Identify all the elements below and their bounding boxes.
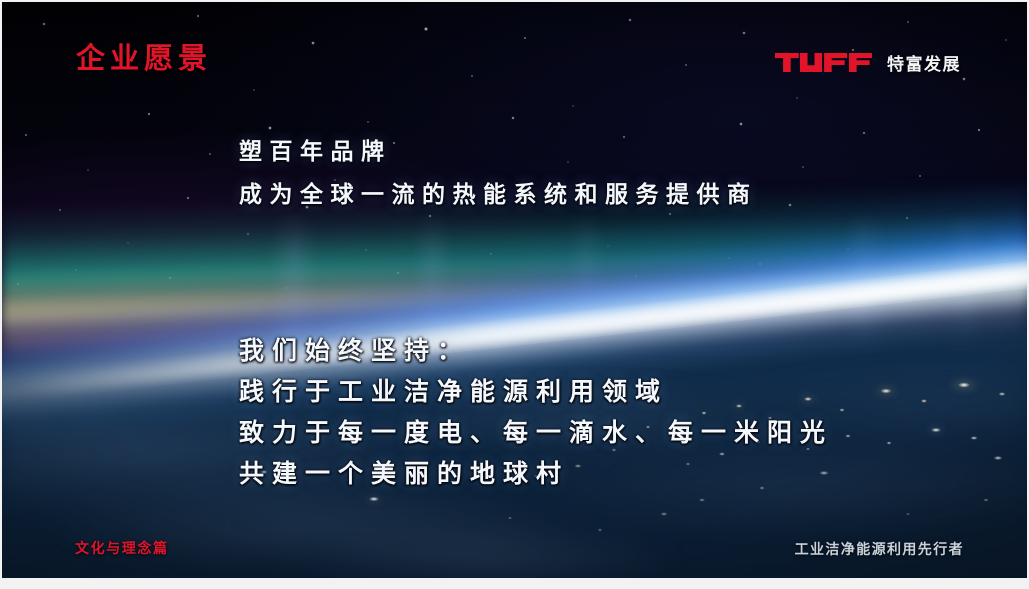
vision-line: 塑百年品牌 — [239, 130, 758, 173]
vision-line: 我们始终坚持： — [239, 331, 833, 372]
vision-statement-primary: 塑百年品牌 成为全球一流的热能系统和服务提供商 — [239, 130, 758, 216]
vision-line: 践行于工业洁净能源利用领域 — [239, 372, 833, 413]
slide-content: 企业愿景 特富发展 塑百年品牌 — [2, 2, 1027, 578]
slide-canvas: 企业愿景 特富发展 塑百年品牌 — [2, 2, 1027, 578]
vision-line: 致力于每一度电、每一滴水、每一米阳光 — [239, 413, 833, 454]
brand-name-cn: 特富发展 — [887, 50, 961, 75]
vision-statement-commitments: 我们始终坚持： 践行于工业洁净能源利用领域 致力于每一度电、每一滴水、每一米阳光… — [239, 331, 833, 495]
vision-line: 共建一个美丽的地球村 — [239, 454, 833, 495]
tuff-wordmark-icon — [775, 53, 876, 72]
brand-lockup: 特富发展 — [775, 50, 961, 75]
footer-tagline: 工业洁净能源利用先行者 — [795, 539, 964, 559]
page-title: 企业愿景 — [76, 45, 212, 74]
presentation-slide: 企业愿景 特富发展 塑百年品牌 — [0, 0, 1029, 589]
footer-section-label: 文化与理念篇 — [75, 538, 169, 558]
vision-line: 成为全球一流的热能系统和服务提供商 — [239, 173, 758, 216]
